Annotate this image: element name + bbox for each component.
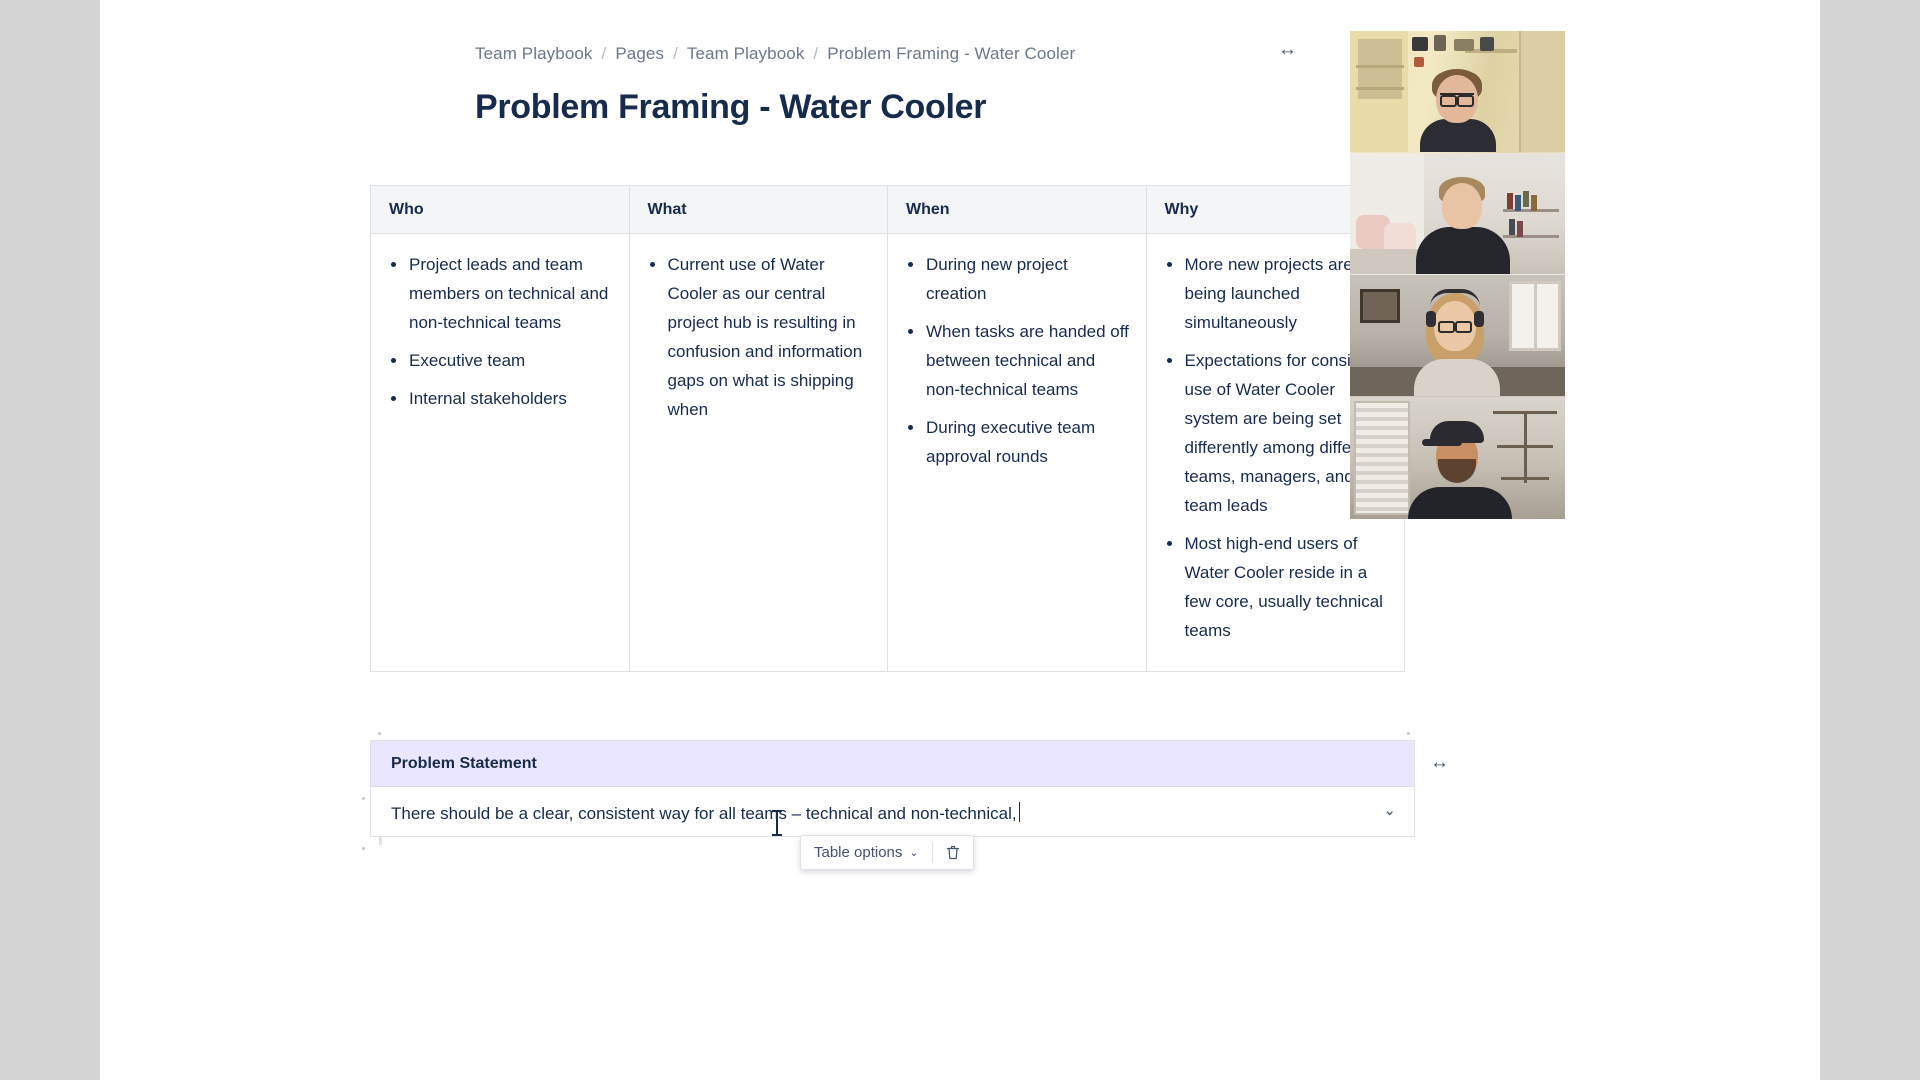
table-handle-dot xyxy=(362,797,365,800)
delete-table-button[interactable] xyxy=(933,836,973,869)
column-header-who[interactable]: Who xyxy=(371,186,630,234)
page-title: Problem Framing - Water Cooler xyxy=(475,88,986,127)
video-tile-participant-3[interactable] xyxy=(1350,275,1565,397)
chevron-down-icon[interactable]: ⌄ xyxy=(1383,801,1396,819)
column-header-when[interactable]: When xyxy=(888,186,1147,234)
breadcrumb: Team Playbook / Pages / Team Playbook / … xyxy=(475,44,1075,64)
table-options-button[interactable]: Table options ⌄ xyxy=(801,836,932,869)
resize-width-icon[interactable]: ↔ xyxy=(1430,753,1447,772)
cell-when[interactable]: During new project creation When tasks a… xyxy=(888,234,1147,672)
list-item: Internal stakeholders xyxy=(381,384,615,413)
video-tile-participant-2[interactable] xyxy=(1350,153,1565,275)
screen-root: Team Playbook / Pages / Team Playbook / … xyxy=(0,0,1920,1080)
list-item: Current use of Water Cooler as our centr… xyxy=(640,250,874,424)
cell-what[interactable]: Current use of Water Cooler as our centr… xyxy=(629,234,888,672)
video-call-participant-strip xyxy=(1350,31,1565,519)
list-item: Most high-end users of Water Cooler resi… xyxy=(1157,529,1391,645)
column-header-what[interactable]: What xyxy=(629,186,888,234)
table-handle-dot xyxy=(1407,732,1410,735)
chevron-down-icon: ⌄ xyxy=(909,846,918,859)
when-list: During new project creation When tasks a… xyxy=(898,250,1132,471)
table-handle-dot xyxy=(362,847,365,850)
list-item: During new project creation xyxy=(898,250,1132,308)
what-list: Current use of Water Cooler as our centr… xyxy=(640,250,874,424)
list-item: Project leads and team members on techni… xyxy=(381,250,615,337)
text-caret xyxy=(1019,802,1020,822)
table-handle-dot xyxy=(378,732,381,735)
problem-statement-table: Problem Statement There should be a clea… xyxy=(370,740,1415,837)
breadcrumb-separator: / xyxy=(664,44,687,64)
table-row: There should be a clear, consistent way … xyxy=(371,787,1415,837)
table-options-toolbar: Table options ⌄ xyxy=(800,835,974,870)
cell-who[interactable]: Project leads and team members on techni… xyxy=(371,234,630,672)
table-header-row: Who What When Why xyxy=(371,186,1405,234)
video-tile-participant-1[interactable] xyxy=(1350,31,1565,153)
problem-statement-header[interactable]: Problem Statement xyxy=(371,741,1415,787)
trash-icon xyxy=(946,845,960,860)
mouse-cursor-ibeam xyxy=(772,810,782,836)
who-list: Project leads and team members on techni… xyxy=(381,250,615,413)
breadcrumb-item-current[interactable]: Problem Framing - Water Cooler xyxy=(827,44,1075,64)
video-tile-participant-4[interactable] xyxy=(1350,397,1565,519)
list-item: During executive team approval rounds xyxy=(898,413,1132,471)
resize-width-icon[interactable]: ↔ xyxy=(1278,40,1295,59)
screenshare-gutter-right xyxy=(1820,0,1920,1080)
problem-statement-text: There should be a clear, consistent way … xyxy=(391,804,1017,823)
breadcrumb-separator: / xyxy=(804,44,827,64)
breadcrumb-item-2[interactable]: Pages xyxy=(615,44,664,64)
list-item: When tasks are handed off between techni… xyxy=(898,317,1132,404)
screenshare-gutter-left xyxy=(0,0,100,1080)
breadcrumb-item-3[interactable]: Team Playbook xyxy=(687,44,805,64)
table-row: Problem Statement xyxy=(371,741,1415,787)
table-options-label: Table options xyxy=(814,844,902,861)
breadcrumb-separator: / xyxy=(593,44,616,64)
list-item: Executive team xyxy=(381,346,615,375)
problem-statement-body[interactable]: There should be a clear, consistent way … xyxy=(371,787,1415,837)
problem-framing-table: Who What When Why Project leads and team… xyxy=(370,185,1405,672)
breadcrumb-item-1[interactable]: Team Playbook xyxy=(475,44,593,64)
table-row: Project leads and team members on techni… xyxy=(371,234,1405,672)
